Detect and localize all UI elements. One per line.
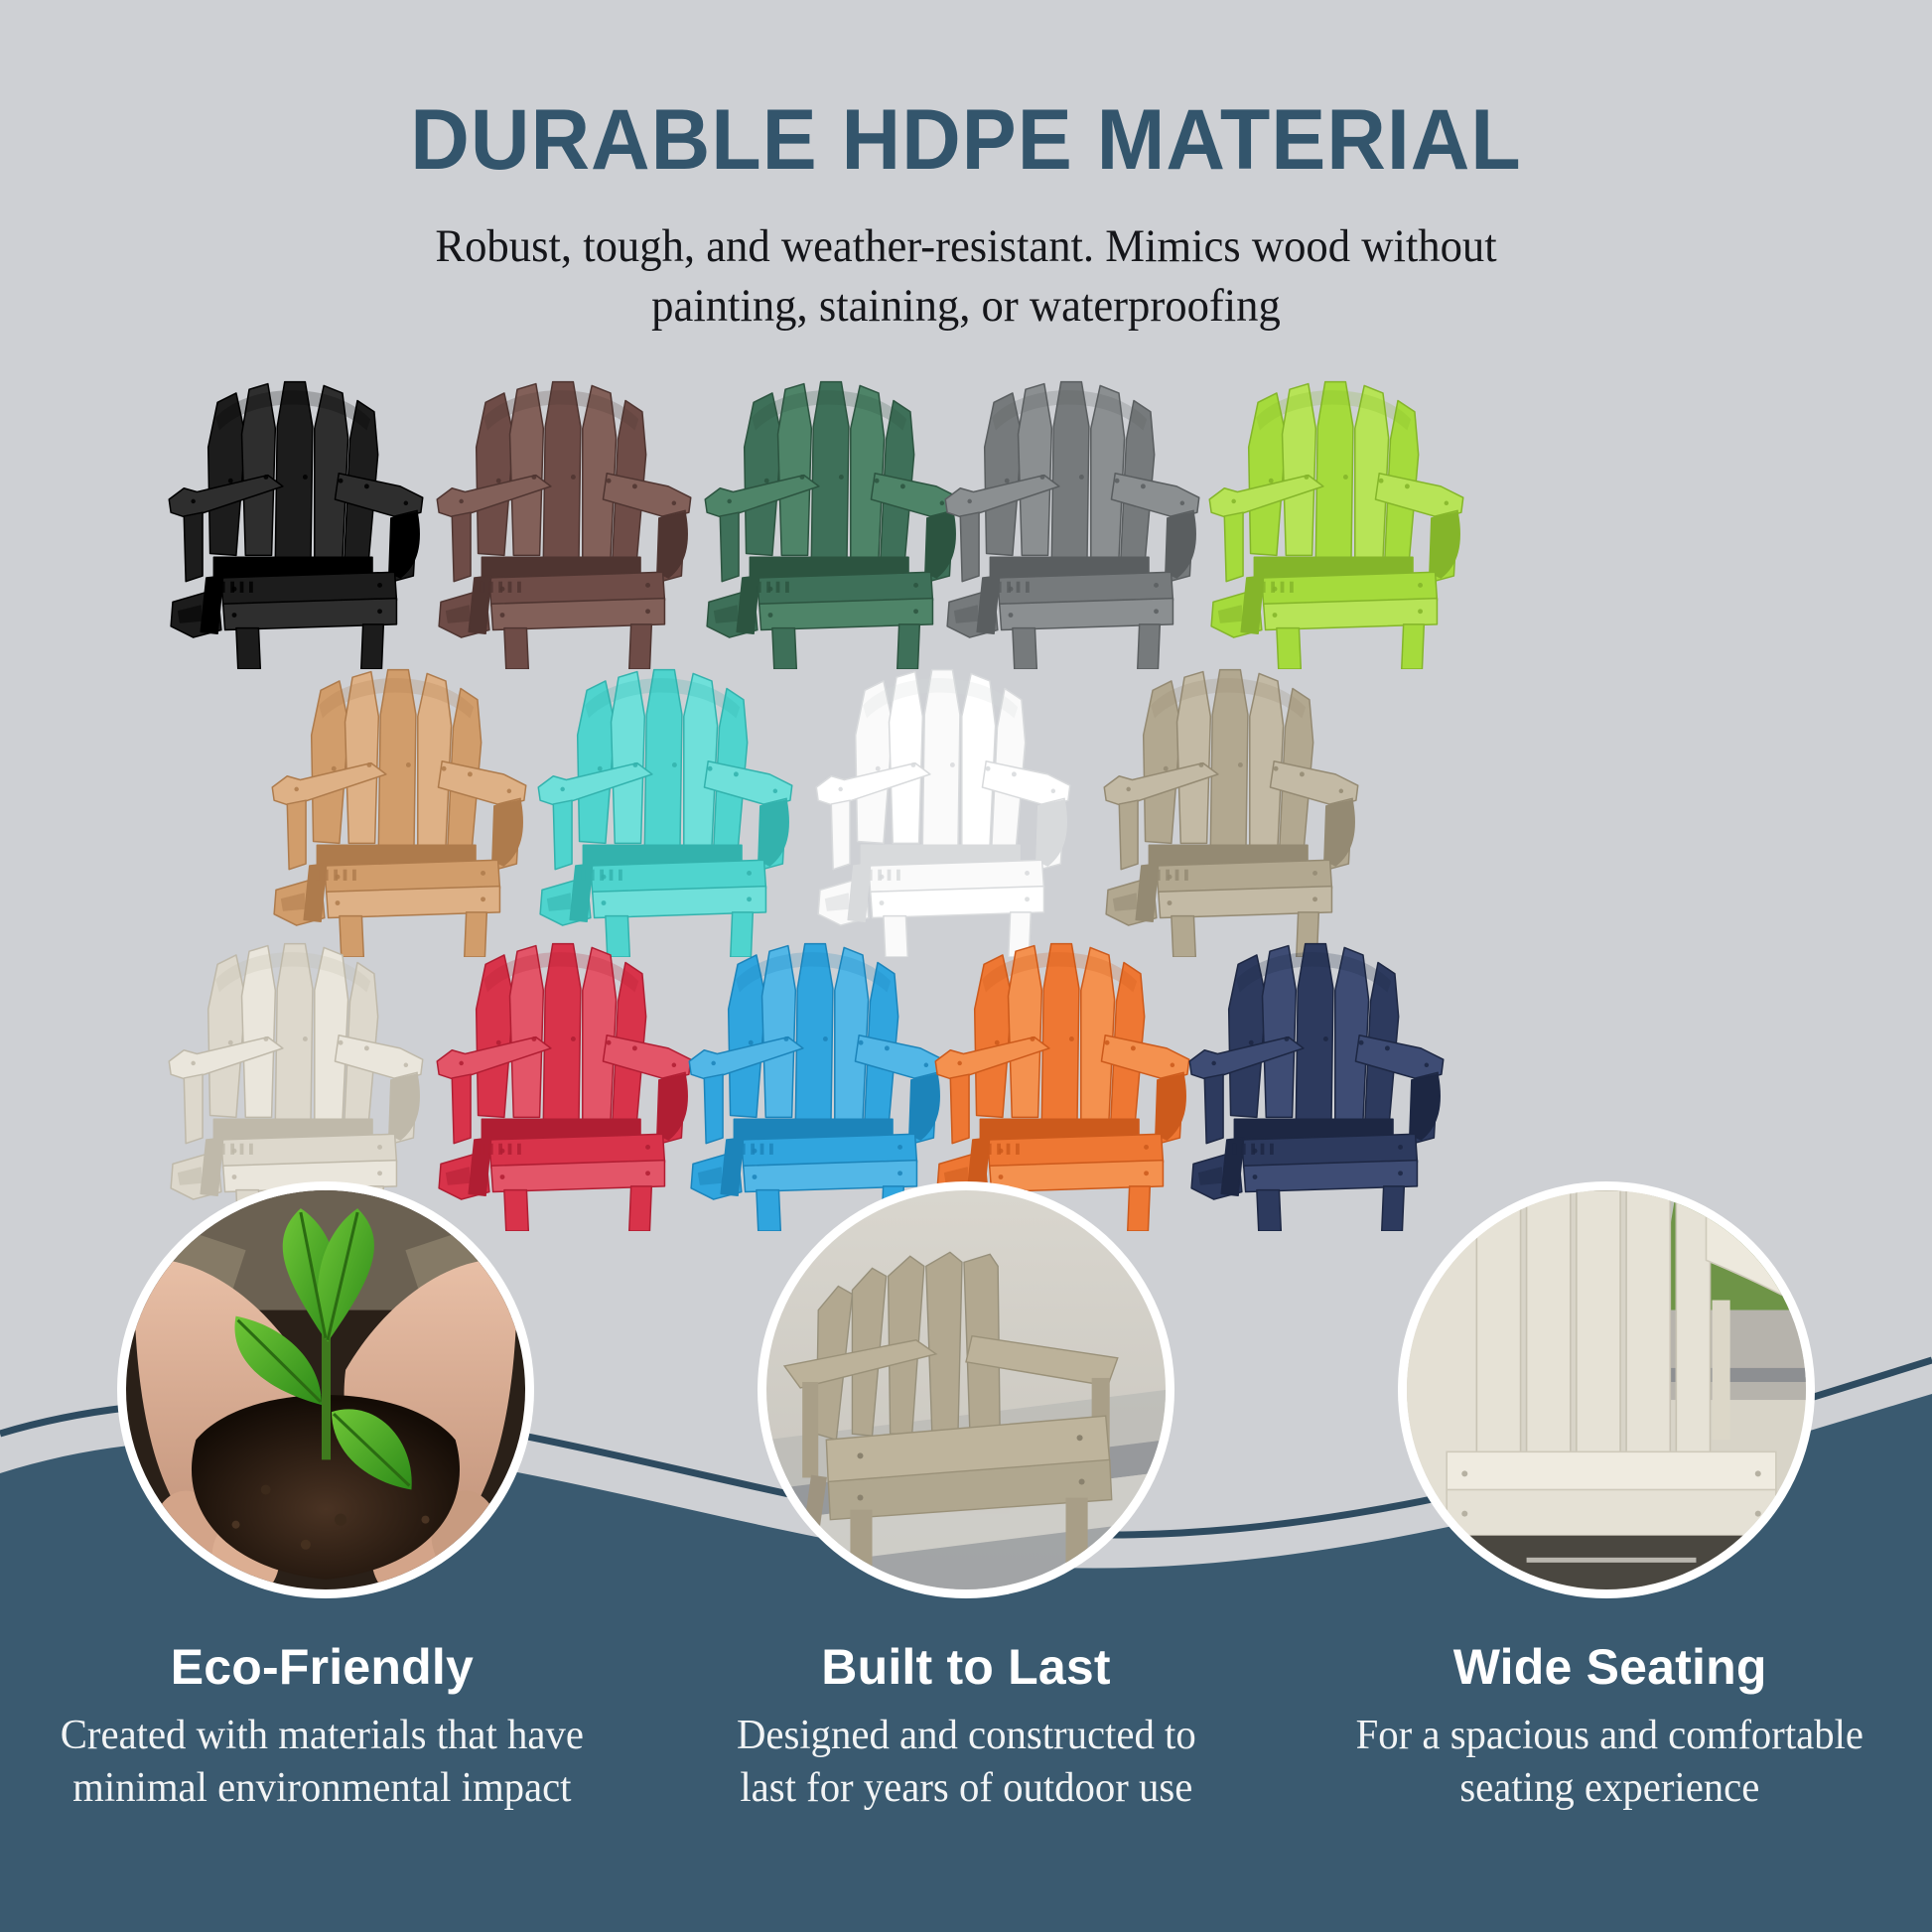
chair-swatch-navy[interactable] [1168,923,1465,1231]
feature-description: Designed and constructed to last for yea… [677,1710,1256,1814]
subtitle-line-1: Robust, tough, and weather-resistant. Mi… [435,220,1496,272]
adirondack-chair-svg [923,361,1221,669]
chair-swatch-lime-green[interactable] [1187,361,1485,669]
feature-caption-row: Eco-Friendly Created with materials that… [0,1638,1932,1886]
feature-description: For a spacious and comfortable seating e… [1320,1710,1899,1814]
hands-holding-seedling-icon [126,1190,525,1589]
chair-swatch-brown[interactable] [415,361,713,669]
page-title: DURABLE HDPE MATERIAL [39,0,1893,183]
feature-title: Eco-Friendly [24,1638,621,1696]
feature-built-to-last: Built to Last Designed and constructed t… [644,1638,1289,1886]
feature-title: Wide Seating [1311,1638,1908,1696]
wide-seat-closeup-icon [1407,1190,1806,1589]
feature-photo-built-to-last [758,1181,1174,1598]
chair-swatch-gray[interactable] [923,361,1221,669]
adirondack-chair-svg [1168,923,1465,1231]
chair-swatch-white[interactable] [794,649,1092,957]
subtitle-line-2: painting, staining, or waterproofing [651,280,1281,332]
feature-desc-line-1: Designed and constructed to [737,1713,1196,1758]
chair-swatch-teak[interactable] [250,649,548,957]
adirondack-chair-svg [794,649,1092,957]
taupe-chair-photo-icon [766,1190,1166,1589]
feature-photo-wide-seating [1398,1181,1815,1598]
photo-frame [766,1190,1166,1589]
chair-swatch-turquoise[interactable] [516,649,814,957]
chair-color-grid [0,361,1932,1255]
feature-desc-line-1: Created with materials that have [61,1713,584,1758]
adirondack-chair-svg [250,649,548,957]
feature-title: Built to Last [668,1638,1265,1696]
adirondack-chair-svg [1187,361,1485,669]
feature-desc-line-2: last for years of outdoor use [740,1765,1192,1811]
photo-frame [1407,1190,1806,1589]
feature-description: Created with materials that have minimal… [33,1710,612,1814]
feature-desc-line-1: For a spacious and comfortable [1356,1713,1863,1758]
chair-swatch-black[interactable] [147,361,445,669]
feature-desc-line-2: seating experience [1460,1765,1760,1811]
feature-photo-eco-friendly [117,1181,534,1598]
page-subtitle: Robust, tough, and weather-resistant. Mi… [49,183,1884,336]
adirondack-chair-svg [516,649,814,957]
header: DURABLE HDPE MATERIAL Robust, tough, and… [0,0,1932,336]
feature-desc-line-2: minimal environmental impact [72,1765,571,1811]
adirondack-chair-svg [1082,649,1380,957]
infographic-canvas: DURABLE HDPE MATERIAL Robust, tough, and… [0,0,1932,1932]
feature-eco-friendly: Eco-Friendly Created with materials that… [0,1638,644,1886]
feature-wide-seating: Wide Seating For a spacious and comforta… [1288,1638,1932,1886]
feature-photo-row [0,1191,1932,1628]
photo-frame [126,1190,525,1589]
chair-swatch-taupe[interactable] [1082,649,1380,957]
adirondack-chair-svg [147,361,445,669]
adirondack-chair-svg [415,361,713,669]
